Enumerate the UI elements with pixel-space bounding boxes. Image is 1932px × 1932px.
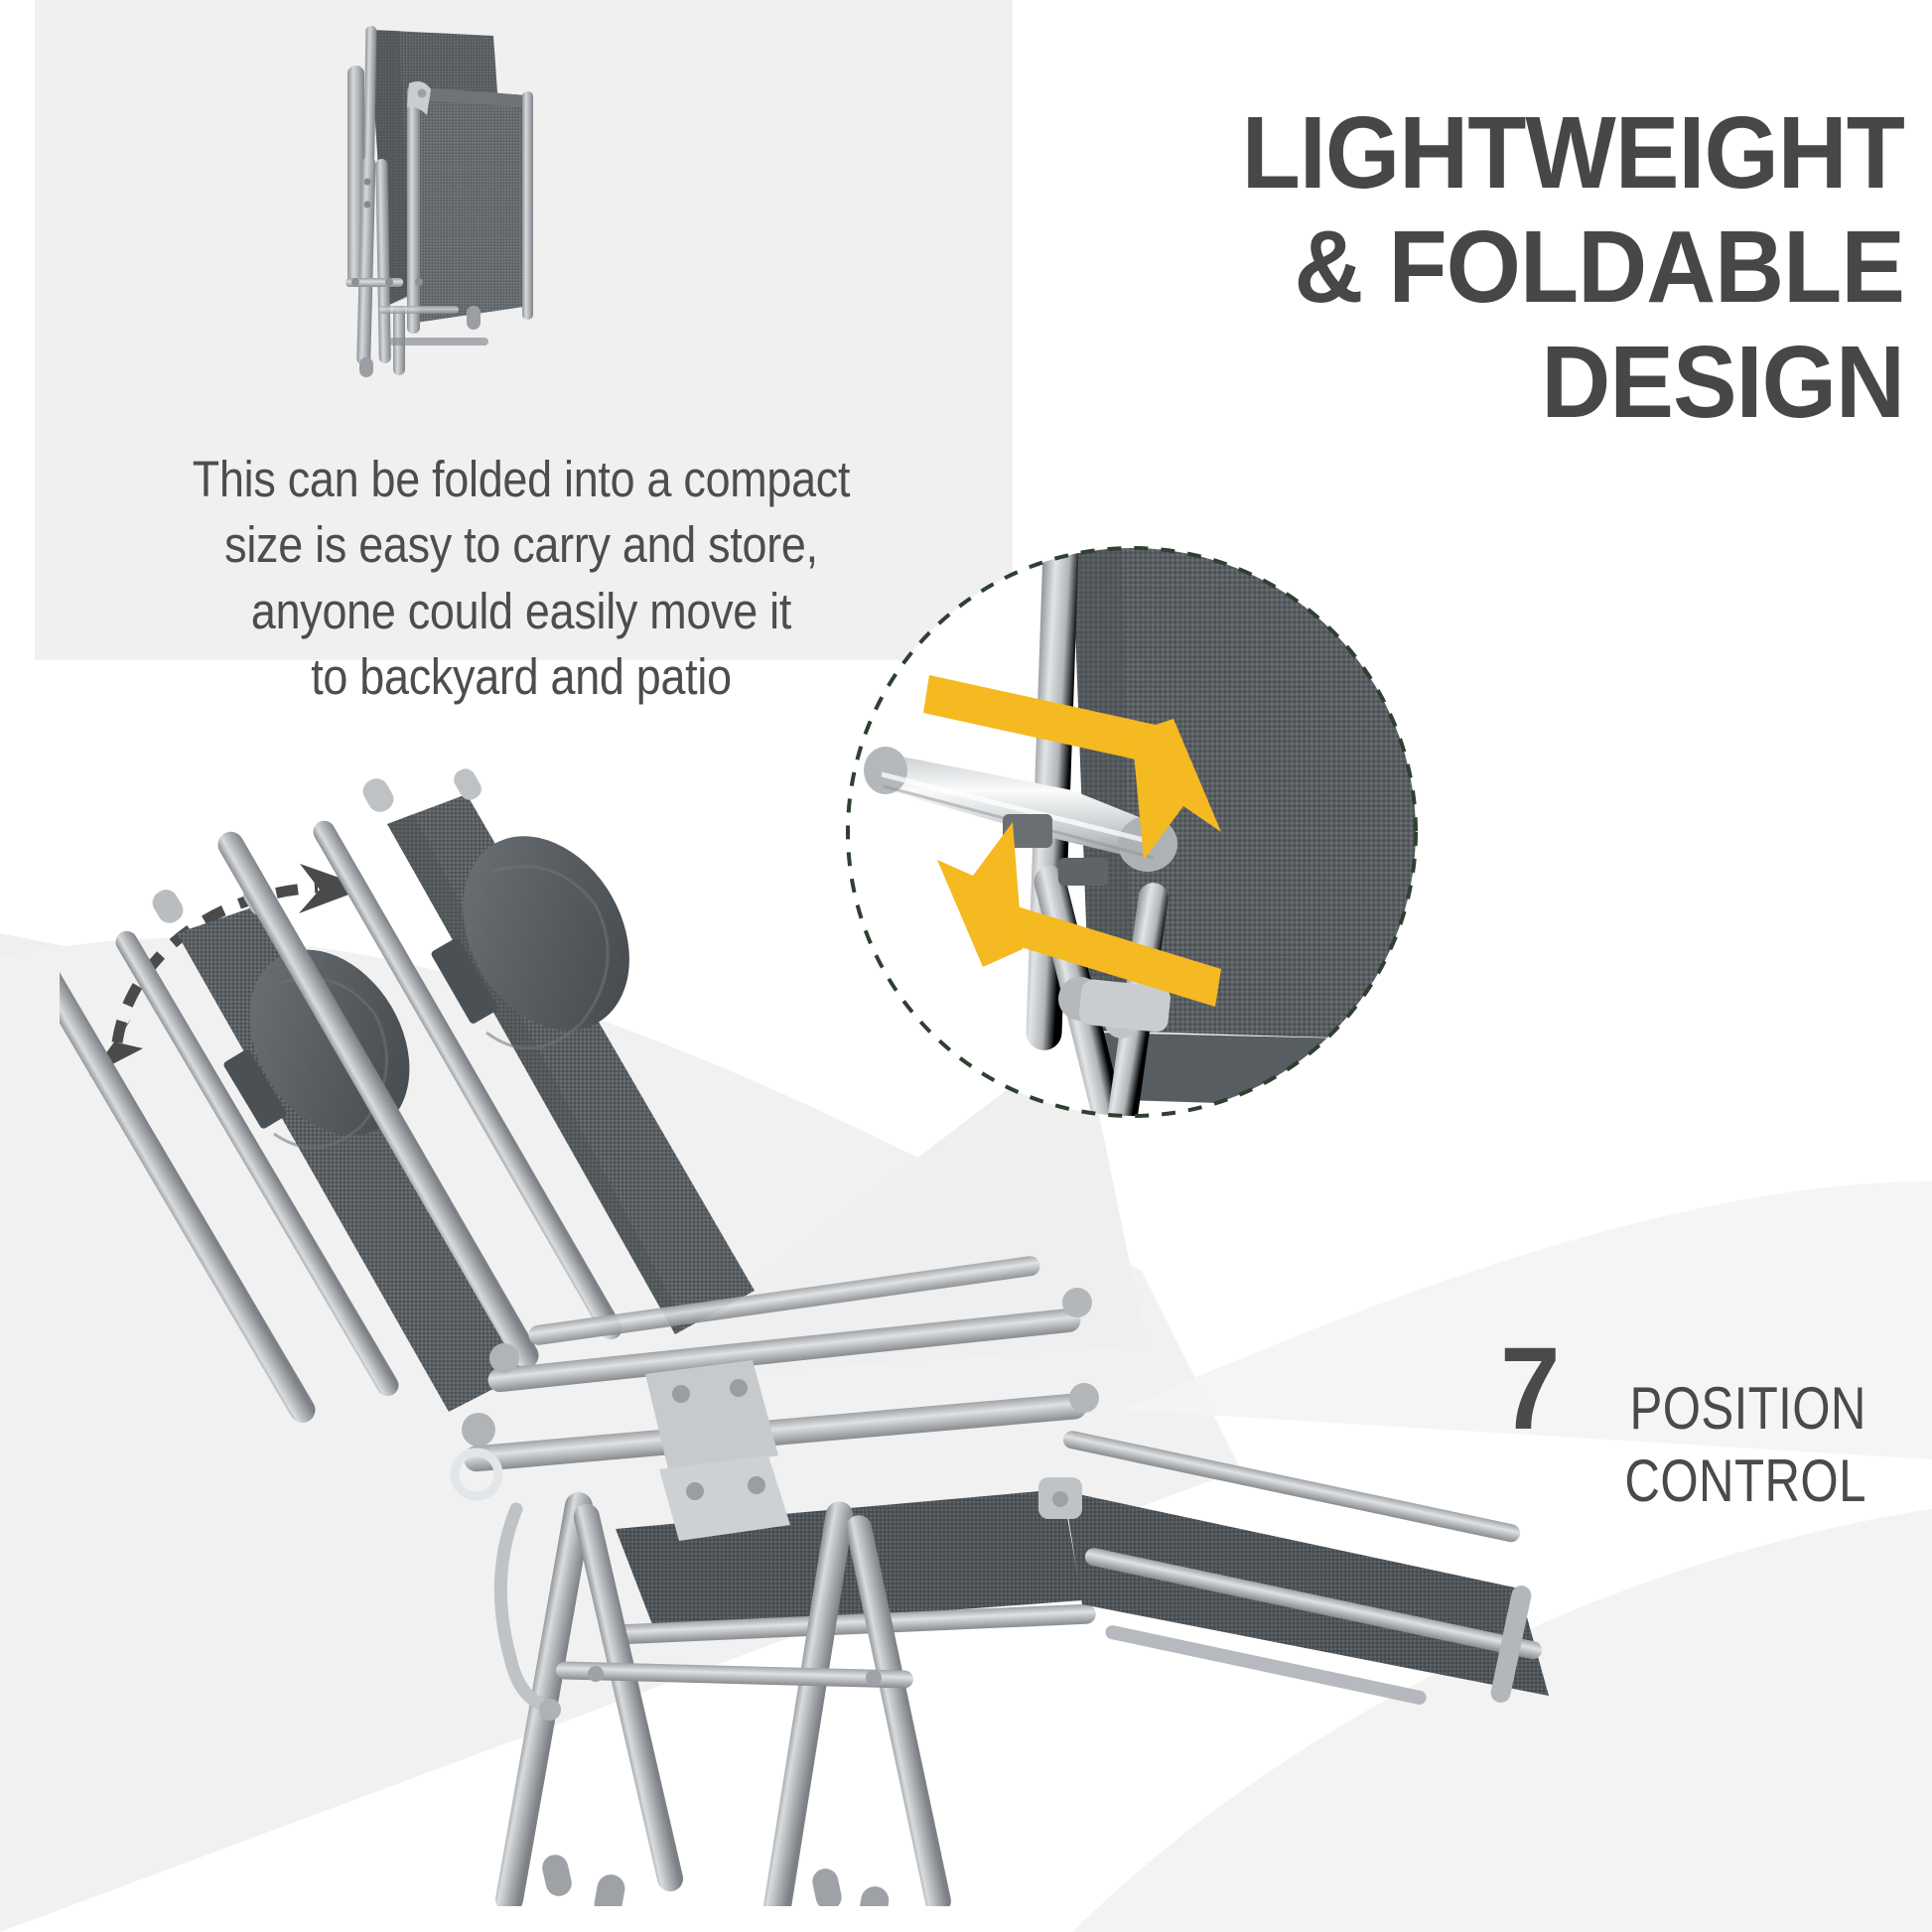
recline-lever-knob — [539, 1699, 561, 1721]
folded-rivet-2 — [385, 278, 393, 286]
callout-bracket-2 — [1058, 858, 1108, 886]
folded-front-rail-right — [522, 91, 533, 320]
armrest-group — [462, 1255, 1099, 1472]
folded-front-mesh — [409, 87, 530, 324]
poster-root: LIGHTWEIGHT & FOLDABLE DESIGN This can b… — [0, 0, 1932, 1932]
headline-line-3: DESIGN — [859, 325, 1904, 439]
callout-seat-mesh — [1098, 1033, 1438, 1110]
hinge-rivet-d — [748, 1476, 765, 1494]
folded-chair-photo — [260, 8, 598, 385]
foot-tip-1 — [592, 1872, 626, 1906]
folded-slat-3 — [389, 338, 488, 345]
brace-rivet-left — [588, 1666, 604, 1682]
hinge-plate — [645, 1360, 778, 1473]
page-title: LIGHTWEIGHT & FOLDABLE DESIGN — [859, 95, 1904, 439]
armrest-end-cap-upper — [1062, 1288, 1092, 1317]
folded-slat-2 — [379, 306, 459, 314]
leg-cross-brace — [556, 1661, 913, 1688]
armrest-end-cap-lower — [1069, 1383, 1099, 1413]
folded-foot-left — [359, 357, 373, 377]
folded-rivet-3 — [415, 278, 423, 286]
hinge-rivet-c — [686, 1482, 704, 1500]
folded-rivet-5 — [364, 202, 371, 208]
armrest-pivot-left2 — [489, 1343, 519, 1373]
armrest-pivot-left — [462, 1413, 495, 1447]
position-count: 7 — [1500, 1335, 1559, 1444]
front-cap-outer — [358, 774, 398, 816]
brace-rivet-right — [866, 1670, 882, 1686]
foot-tip-4 — [810, 1866, 844, 1906]
headline-line-2: & FOLDABLE — [859, 209, 1904, 324]
folded-rivet-4 — [364, 179, 371, 186]
position-words: POSITION CONTROL — [1625, 1372, 1866, 1517]
foot-tip-3 — [857, 1884, 892, 1906]
rear-cap-outer — [148, 886, 188, 927]
position-word-2: CONTROL — [1625, 1445, 1866, 1517]
front-cap-inner — [450, 765, 484, 804]
hinge-rivet-b — [730, 1379, 748, 1397]
folded-foot-right — [467, 306, 481, 330]
description-text: This can be folded into a compact size i… — [97, 447, 945, 710]
folded-front-rail-left — [407, 85, 420, 334]
recline-lever — [500, 1509, 540, 1704]
headline-line-1: LIGHTWEIGHT — [859, 95, 1904, 209]
position-word-1: POSITION — [1625, 1372, 1866, 1445]
folded-pivot-top — [418, 89, 427, 98]
hinge-rivet-a — [672, 1385, 690, 1403]
armrest-lower-bar — [463, 1393, 1088, 1473]
folded-rivet-1 — [351, 278, 359, 286]
footrest-hinge-rivet — [1052, 1491, 1068, 1507]
foot-tip-2 — [540, 1853, 575, 1899]
position-control-label: 7 POSITION CONTROL — [1172, 1335, 1866, 1517]
